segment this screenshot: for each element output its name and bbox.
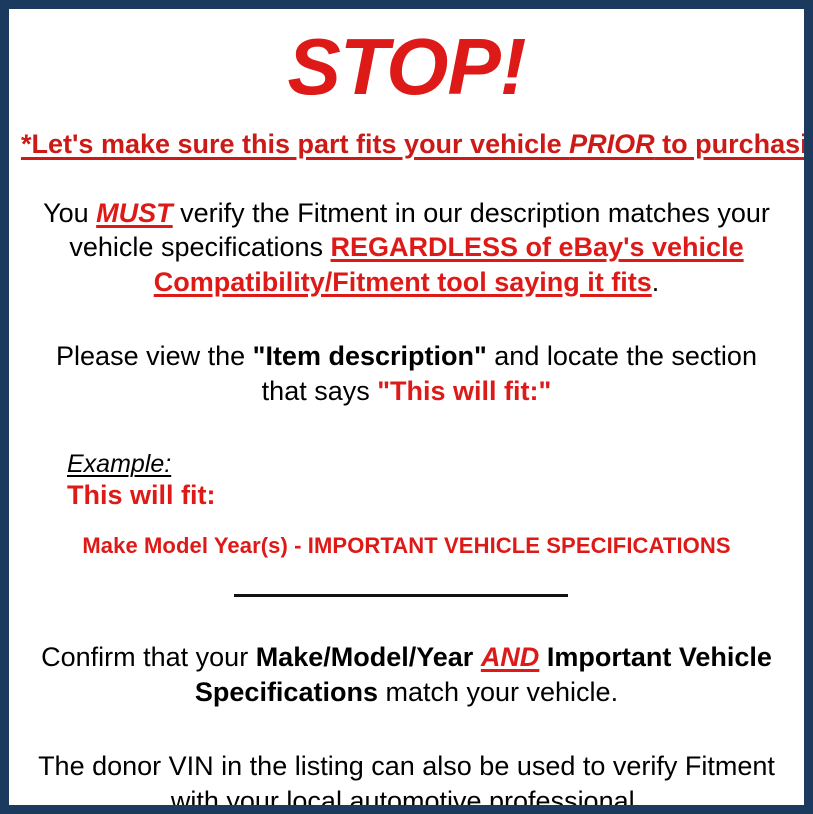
confirm-part1: Confirm that your — [41, 642, 256, 672]
make-model-year-emphasis: Make/Model/Year — [256, 642, 474, 672]
subtitle-suffix: to purchasing* — [655, 129, 813, 159]
page-title: STOP! — [21, 27, 792, 107]
example-fit-heading: This will fit: — [67, 480, 792, 511]
notice-inner: STOP! *Let's make sure this part fits yo… — [9, 27, 804, 814]
subtitle-emphasis-prior: PRIOR — [569, 129, 655, 159]
confirm-part2 — [473, 642, 481, 672]
must-emphasis: MUST — [96, 198, 173, 228]
subtitle-line: *Let's make sure this part fits your veh… — [21, 130, 792, 160]
this-will-fit-emphasis: "This will fit:" — [377, 376, 551, 406]
and-emphasis: AND — [481, 642, 540, 672]
fitment-notice-card: STOP! *Let's make sure this part fits yo… — [0, 0, 813, 814]
must-part1: You — [43, 198, 96, 228]
please-part1: Please view the — [56, 341, 253, 371]
must-paragraph: You MUST verify the Fitment in our descr… — [21, 196, 792, 300]
example-block: Example: This will fit: — [21, 450, 792, 511]
confirm-paragraph: Confirm that your Make/Model/Year AND Im… — [21, 640, 792, 709]
confirm-part3 — [539, 642, 547, 672]
confirm-part4: match your vehicle. — [378, 677, 618, 707]
example-label: Example: — [67, 450, 171, 479]
vin-paragraph: The donor VIN in the listing can also be… — [21, 749, 792, 814]
must-part3: . — [652, 267, 660, 297]
item-description-emphasis: "Item description" — [253, 341, 487, 371]
divider-wrapper — [21, 584, 792, 602]
example-spec-line: Make Model Year(s) - IMPORTANT VEHICLE S… — [21, 533, 792, 559]
example-label-row: Example: — [67, 450, 792, 479]
subtitle-prefix: *Let's make sure this part fits your veh… — [21, 129, 569, 159]
please-view-paragraph: Please view the "Item description" and l… — [21, 339, 792, 408]
horizontal-divider — [234, 594, 568, 597]
